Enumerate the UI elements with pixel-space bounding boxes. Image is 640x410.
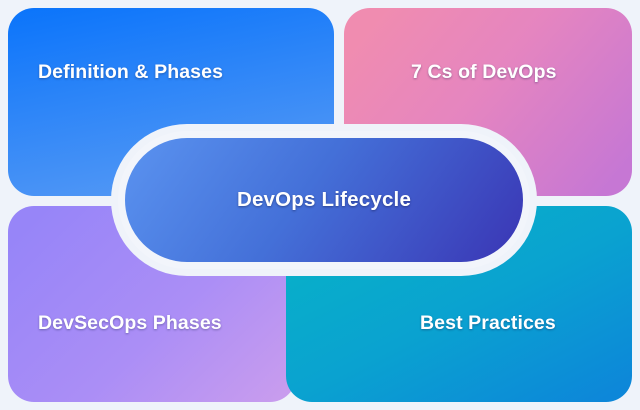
diagram-canvas: Definition & Phases 7 Cs of DevOps DevSe…	[0, 0, 640, 410]
center-node-label: DevOps Lifecycle	[237, 188, 411, 212]
center-node-devops-lifecycle[interactable]: DevOps Lifecycle	[118, 131, 530, 269]
